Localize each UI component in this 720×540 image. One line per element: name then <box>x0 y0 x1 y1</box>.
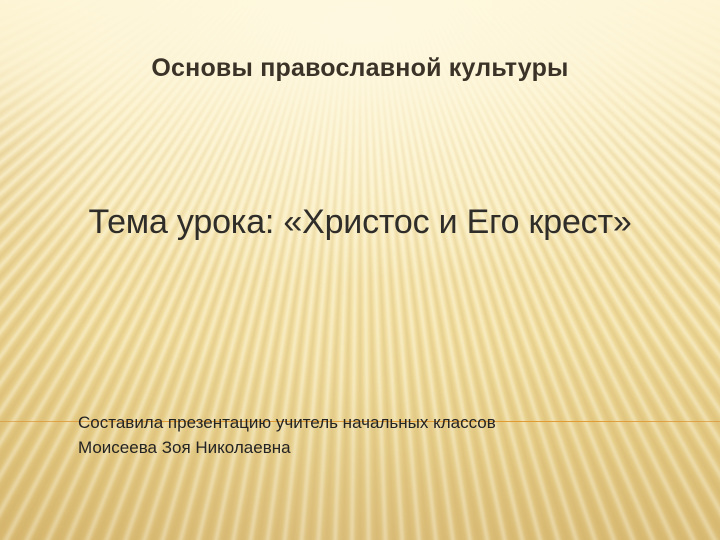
presentation-slide: Основы православной культуры Тема урока:… <box>0 0 720 540</box>
slide-heading: Основы православной культуры <box>0 54 720 83</box>
slide-content: Основы православной культуры Тема урока:… <box>0 0 720 540</box>
slide-credits: Составила презентацию учитель начальных … <box>78 410 678 460</box>
slide-subtitle: Тема урока: «Христос и Его крест» <box>0 203 720 242</box>
credits-line-role: Составила презентацию учитель начальных … <box>78 410 678 435</box>
credits-line-author: Моисеева Зоя Николаевна <box>78 435 678 460</box>
